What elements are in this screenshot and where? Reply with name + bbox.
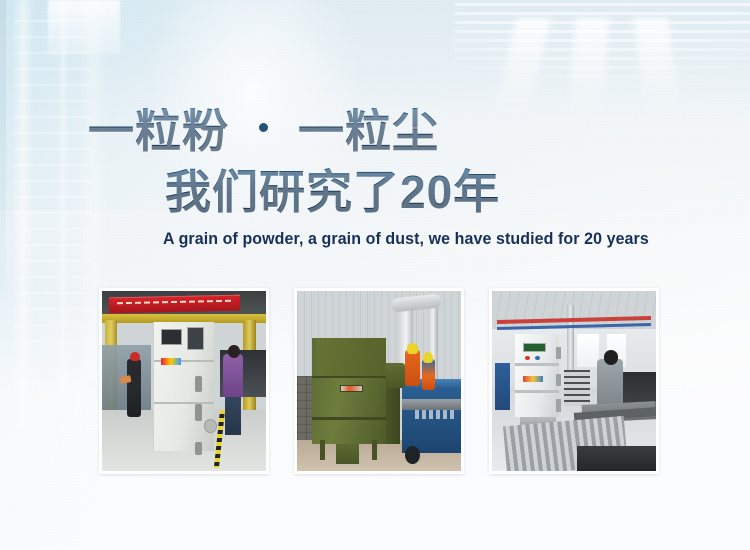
- p3-collector-label: [523, 376, 543, 382]
- p1-worker-purple-shirt: [223, 354, 243, 397]
- background-light-beam-3: [634, 18, 680, 118]
- p2-scissor-lift-wheel: [405, 446, 420, 464]
- p1-worker-black-uniform: [127, 359, 142, 417]
- headline-line-2: 我们研究了20年: [165, 168, 500, 216]
- headline-line-1: 一粒粉 一粒尘: [88, 108, 439, 154]
- p1-inlet-port: [204, 419, 217, 433]
- photo-3-content: [492, 291, 656, 471]
- p3-collector-handle-2: [556, 374, 561, 387]
- photo-gallery: [0, 288, 750, 474]
- p3-collector-display: [523, 343, 546, 352]
- p2-scissor-lift-deck: [402, 399, 461, 410]
- p1-worker-red-cap: [130, 352, 140, 361]
- p2-scissor-lift-branding: [415, 410, 454, 419]
- p3-blue-equipment: [495, 363, 510, 410]
- photo-2-content: [297, 291, 461, 471]
- p2-collector-nameplate: [340, 385, 363, 392]
- background-light-beam-2: [569, 18, 610, 118]
- background-left-edge: [0, 0, 6, 300]
- background-panel-top-left: [48, 0, 120, 54]
- p3-collector-handle-3: [556, 399, 561, 412]
- photo-1-content: [102, 291, 266, 471]
- p2-worker-hi-vis-1: [405, 350, 420, 386]
- p2-worker-helmet-1: [407, 343, 418, 354]
- p1-handle-1: [195, 376, 202, 392]
- p3-collector-button-red: [525, 356, 530, 361]
- p1-control-display: [161, 329, 182, 345]
- p3-dark-material-pile: [577, 446, 656, 471]
- background-roof-beams: [455, 0, 750, 104]
- p1-worker-purple-legs: [225, 395, 241, 435]
- p2-collector-seam-2: [312, 417, 386, 420]
- photo-white-dust-collector-workshop[interactable]: [489, 288, 659, 474]
- p1-handle-2: [195, 404, 202, 420]
- p2-worker-helmet-2: [423, 352, 433, 363]
- headline-subtitle: A grain of powder, a grain of dust, we h…: [163, 229, 649, 249]
- p1-control-panel: [187, 327, 203, 350]
- p3-collector-seam-1: [515, 363, 559, 366]
- p1-red-banner: [108, 295, 239, 314]
- p2-collector-leg-right: [372, 440, 377, 460]
- headline-line-1-part-2: 一粒尘: [298, 108, 439, 154]
- p2-collector-motor: [382, 363, 405, 388]
- p2-collector-top-section: [317, 338, 386, 378]
- p3-collector-seam-2: [515, 390, 559, 393]
- dot-separator-icon: [259, 123, 268, 132]
- p1-worker-purple-head: [228, 345, 239, 358]
- p2-collector-seam-1: [312, 376, 386, 379]
- photo-green-dust-collector-installation[interactable]: [294, 288, 464, 474]
- headline-line-1-part-1: 一粒粉: [88, 108, 229, 154]
- photo-white-dust-collector-assembly[interactable]: [99, 288, 269, 474]
- p2-collector-hopper: [336, 444, 359, 464]
- p1-handle-3: [195, 442, 202, 455]
- p3-worker-body: [597, 359, 623, 406]
- p3-collector-button-blue: [535, 356, 540, 361]
- p1-brand-label: [161, 358, 181, 365]
- hero-banner: 一粒粉 一粒尘 我们研究了20年 A grain of powder, a gr…: [0, 0, 750, 550]
- p3-window-1: [577, 334, 598, 366]
- p3-parts-rack: [564, 370, 590, 406]
- background-light-beam-1: [493, 18, 550, 118]
- p3-worker-head: [604, 350, 619, 364]
- p2-worker-hi-vis-2: [422, 359, 435, 390]
- p3-collector-handle-1: [556, 347, 561, 360]
- p2-collector-leg-left: [320, 440, 325, 460]
